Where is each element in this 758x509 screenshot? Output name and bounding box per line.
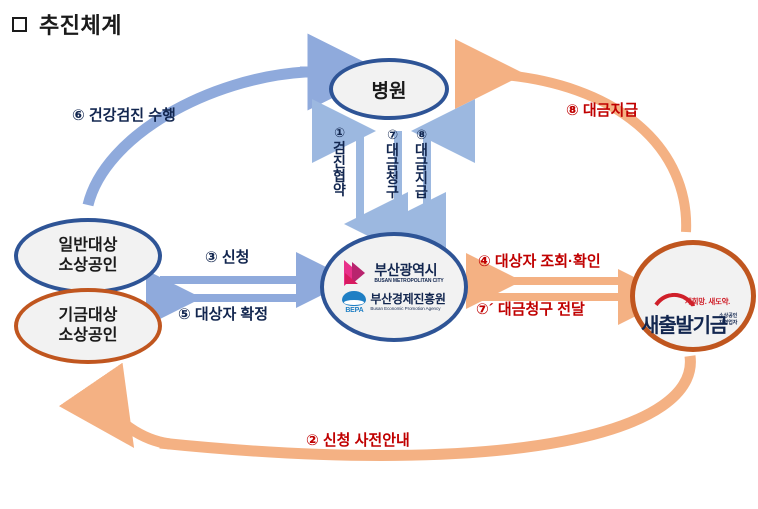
flow-7-chars: 대금청구 bbox=[386, 143, 399, 199]
node-busan-city[interactable]: 부산광역시 BUSAN METROPOLITAN CITY BEPA 부산경제진… bbox=[320, 232, 468, 342]
node-new-start-fund[interactable]: 새희망. 새도약. 새출발기금 소상공인 자영업자 bbox=[630, 240, 756, 352]
bepa-logo: BEPA 부산경제진흥원 Busan Economic Promotion Ag… bbox=[342, 291, 445, 314]
bepa-name-kr: 부산경제진흥원 bbox=[370, 293, 445, 305]
arrow-flow-8 bbox=[470, 74, 686, 232]
diagram-canvas: 추진체계 bbox=[0, 0, 758, 509]
busan-logo-icon bbox=[344, 260, 369, 286]
node-general-target-label-2: 소상공인 bbox=[59, 256, 118, 276]
new-start-fund-name: 새출발기금 bbox=[641, 309, 727, 338]
new-start-fund-tagline: 새희망. 새도약. bbox=[685, 296, 730, 307]
node-general-target[interactable]: 일반대상 소상공인 bbox=[14, 218, 162, 294]
node-fund-target-label-2: 소상공인 bbox=[59, 326, 118, 346]
flow-label-1-vertical: ① 검진협약 bbox=[333, 126, 346, 197]
busan-city-logo: 부산광역시 BUSAN METROPOLITAN CITY bbox=[344, 260, 443, 286]
flow-label-7-prime: ⑦´ 대금청구 전달 bbox=[476, 302, 585, 319]
flow-label-7-vertical: ⑦ 대금청구 bbox=[386, 128, 399, 199]
flow-1-chars: 검진협약 bbox=[333, 141, 346, 197]
flow-8v-number: ⑧ bbox=[415, 128, 428, 141]
flow-8v-chars: 대금지급 bbox=[415, 143, 428, 199]
bepa-wave-icon bbox=[342, 291, 366, 306]
flow-label-3: ③ 신청 bbox=[205, 250, 249, 267]
arrow-flow-6 bbox=[88, 72, 324, 205]
flow-label-8-vertical: ⑧ 대금지급 bbox=[415, 128, 428, 199]
busan-city-name-en: BUSAN METROPOLITAN CITY bbox=[374, 279, 443, 284]
node-fund-target-label-1: 기금대상 bbox=[59, 306, 118, 326]
flow-label-6: ⑥ 건강검진 수행 bbox=[72, 108, 176, 125]
new-start-fund-side-2: 자영업자 bbox=[719, 320, 737, 327]
busan-city-name-kr: 부산광역시 bbox=[374, 263, 443, 277]
bepa-name-en: Busan Economic Promotion Agency bbox=[370, 307, 445, 312]
node-hospital-label: 병원 bbox=[372, 76, 407, 103]
flow-1-number: ① bbox=[333, 126, 346, 139]
node-fund-target[interactable]: 기금대상 소상공인 bbox=[14, 288, 162, 364]
bepa-acronym: BEPA bbox=[342, 307, 366, 314]
flow-label-2: ② 신청 사전안내 bbox=[306, 433, 410, 450]
flow-7-number: ⑦ bbox=[386, 128, 399, 141]
flow-label-5: ⑤ 대상자 확정 bbox=[178, 307, 268, 324]
flow-label-4: ④ 대상자 조회·확인 bbox=[478, 254, 601, 271]
node-hospital[interactable]: 병원 bbox=[329, 58, 449, 120]
node-general-target-label-1: 일반대상 bbox=[59, 236, 118, 256]
flow-label-8: ⑧ 대금지급 bbox=[566, 103, 638, 120]
